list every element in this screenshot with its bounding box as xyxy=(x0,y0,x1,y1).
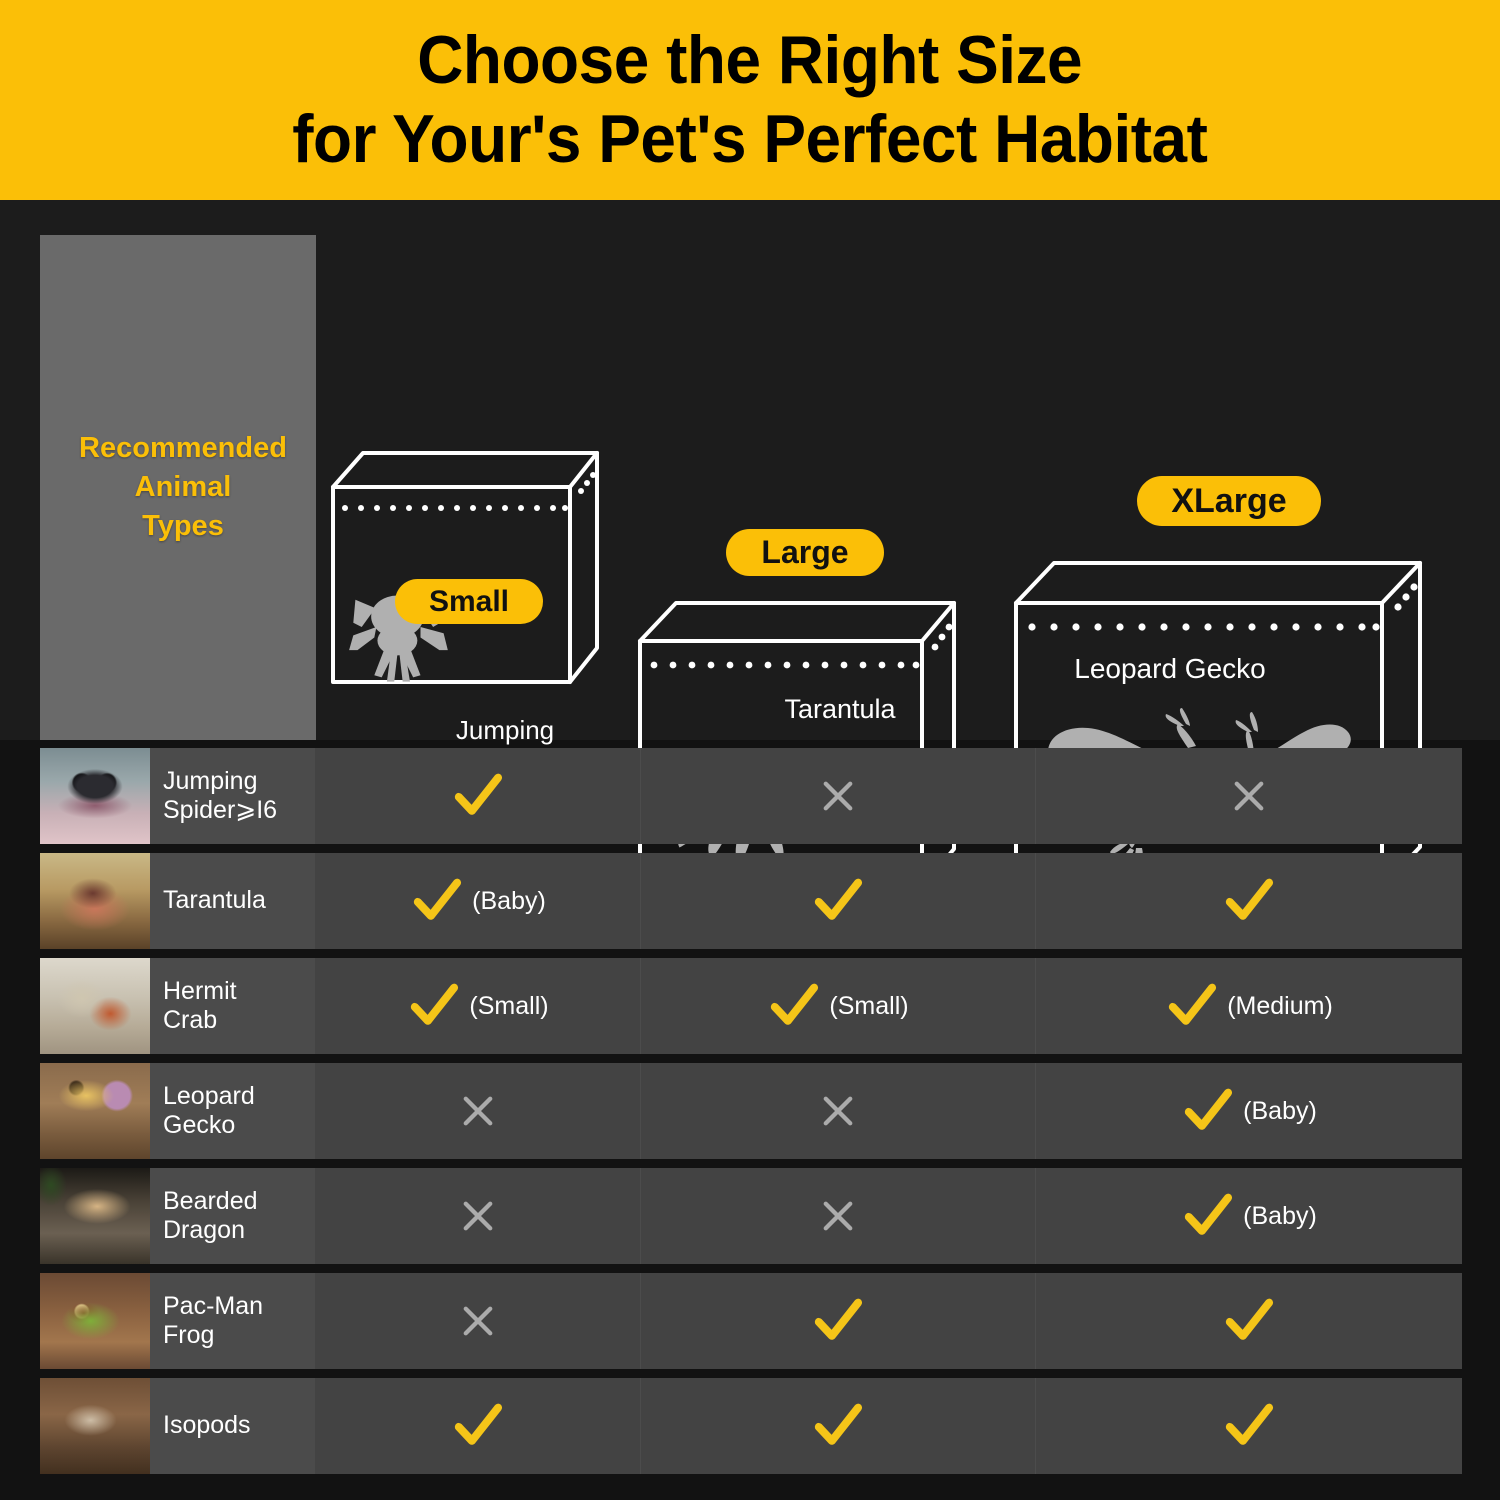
mark-wrapper xyxy=(810,1398,866,1454)
mark-wrapper xyxy=(1221,1398,1277,1454)
tank-small xyxy=(325,445,605,690)
mark-wrapper xyxy=(815,1193,861,1239)
check-icon xyxy=(450,768,506,824)
mark-wrapper: (Baby) xyxy=(1180,1083,1317,1139)
check-icon xyxy=(810,1398,866,1454)
check-icon xyxy=(1164,978,1220,1034)
cell-large xyxy=(640,748,1035,844)
mark-wrapper: (Small) xyxy=(406,978,548,1034)
mark-wrapper: (Small) xyxy=(766,978,908,1034)
row-animal-name: Pac-Man Frog xyxy=(163,1292,263,1351)
cell-small xyxy=(315,1063,640,1159)
mark-wrapper xyxy=(455,1193,501,1239)
check-icon xyxy=(1180,1188,1236,1244)
cross-icon xyxy=(815,1088,861,1134)
cross-icon xyxy=(815,773,861,819)
cell-small xyxy=(315,1168,640,1264)
check-icon xyxy=(1180,1083,1236,1139)
cell-note: (Small) xyxy=(829,992,908,1021)
table-row: Jumping Spider⩾I6 xyxy=(40,748,1462,844)
row-animal-name-cell: Isopods xyxy=(150,1378,315,1474)
mark-wrapper: (Baby) xyxy=(1180,1188,1317,1244)
cell-xlarge xyxy=(1035,853,1462,949)
cell-large xyxy=(640,1168,1035,1264)
mark-wrapper xyxy=(1221,1293,1277,1349)
mark-wrapper xyxy=(455,1298,501,1344)
row-animal-name: Bearded Dragon xyxy=(163,1187,258,1246)
cell-small: (Baby) xyxy=(315,853,640,949)
sidebar-title-line-3: Types xyxy=(79,507,287,546)
tank-size-diagram-area: Recommended Animal Types xyxy=(0,200,1500,740)
row-animal-name-cell: Hermit Crab xyxy=(150,958,315,1054)
table-row: Hermit Crab(Small)(Small)(Medium) xyxy=(40,958,1462,1054)
mark-wrapper xyxy=(815,773,861,819)
cell-note: (Baby) xyxy=(472,887,546,916)
cross-icon xyxy=(815,1193,861,1239)
check-icon xyxy=(1221,873,1277,929)
check-icon xyxy=(766,978,822,1034)
check-icon xyxy=(406,978,462,1034)
table-row: Isopods xyxy=(40,1378,1462,1474)
isopods-photo xyxy=(40,1378,150,1474)
mark-wrapper xyxy=(1226,773,1272,819)
bearded-dragon-photo xyxy=(40,1168,150,1264)
cell-xlarge xyxy=(1035,1378,1462,1474)
cell-large xyxy=(640,1378,1035,1474)
cell-note: (Baby) xyxy=(1243,1097,1317,1126)
cell-large xyxy=(640,853,1035,949)
mark-wrapper xyxy=(450,1398,506,1454)
size-badge-small[interactable]: Small xyxy=(395,579,543,624)
mark-wrapper xyxy=(810,1293,866,1349)
row-animal-name-cell: Pac-Man Frog xyxy=(150,1273,315,1369)
cell-large xyxy=(640,1063,1035,1159)
header-title-line-1: Choose the Right Size xyxy=(418,21,1083,100)
check-icon xyxy=(1221,1398,1277,1454)
sidebar-title-line-1: Recommended xyxy=(79,429,287,468)
row-animal-name-cell: Bearded Dragon xyxy=(150,1168,315,1264)
check-icon xyxy=(450,1398,506,1454)
row-animal-name: Isopods xyxy=(163,1411,251,1441)
size-badge-large[interactable]: Large xyxy=(726,529,884,576)
mark-wrapper xyxy=(1221,873,1277,929)
mark-wrapper xyxy=(450,768,506,824)
row-animal-name: Leopard Gecko xyxy=(163,1082,255,1141)
cell-xlarge: (Baby) xyxy=(1035,1063,1462,1159)
check-icon xyxy=(1221,1293,1277,1349)
mark-wrapper xyxy=(455,1088,501,1134)
table-row: Tarantula(Baby) xyxy=(40,853,1462,949)
cell-note: (Baby) xyxy=(1243,1202,1317,1231)
cross-icon xyxy=(455,1088,501,1134)
size-badge-xlarge[interactable]: XLarge xyxy=(1137,476,1321,526)
tank-xlarge-vent-dots xyxy=(1028,583,1417,630)
check-icon xyxy=(810,1293,866,1349)
cell-xlarge: (Baby) xyxy=(1035,1168,1462,1264)
sidebar-title: Recommended Animal Types xyxy=(53,429,303,546)
row-animal-name-cell: Jumping Spider⩾I6 xyxy=(150,748,315,844)
check-icon xyxy=(409,873,465,929)
table-row: Leopard Gecko(Baby) xyxy=(40,1063,1462,1159)
tank-large-vent-dots xyxy=(651,624,953,669)
cross-icon xyxy=(1226,773,1272,819)
cell-xlarge: (Medium) xyxy=(1035,958,1462,1054)
cell-xlarge xyxy=(1035,748,1462,844)
mark-wrapper: (Baby) xyxy=(409,873,546,929)
infographic-page: Choose the Right Size for Your's Pet's P… xyxy=(0,0,1500,1500)
cell-small xyxy=(315,1378,640,1474)
row-animal-name-cell: Tarantula xyxy=(150,853,315,949)
mark-wrapper xyxy=(810,873,866,929)
check-icon xyxy=(810,873,866,929)
table-row: Bearded Dragon(Baby) xyxy=(40,1168,1462,1264)
cell-small: (Small) xyxy=(315,958,640,1054)
cross-icon xyxy=(455,1193,501,1239)
table-row: Pac-Man Frog xyxy=(40,1273,1462,1369)
cell-note: (Small) xyxy=(469,992,548,1021)
header-banner: Choose the Right Size for Your's Pet's P… xyxy=(0,0,1500,200)
tarantula-photo xyxy=(40,853,150,949)
row-animal-name: Tarantula xyxy=(163,886,266,916)
recommended-animal-types-panel: Recommended Animal Types xyxy=(40,235,316,740)
tank-small-vent-dots xyxy=(342,472,596,511)
hermit-crab-photo xyxy=(40,958,150,1054)
cell-large: (Small) xyxy=(640,958,1035,1054)
jumping-spider-photo xyxy=(40,748,150,844)
cell-small xyxy=(315,748,640,844)
cell-note: (Medium) xyxy=(1227,992,1333,1021)
mark-wrapper xyxy=(815,1088,861,1134)
row-animal-name-cell: Leopard Gecko xyxy=(150,1063,315,1159)
cell-large xyxy=(640,1273,1035,1369)
cell-xlarge xyxy=(1035,1273,1462,1369)
mark-wrapper: (Medium) xyxy=(1164,978,1333,1034)
cell-small xyxy=(315,1273,640,1369)
header-title-line-2: for Your's Pet's Perfect Habitat xyxy=(292,100,1207,179)
leopard-gecko-photo xyxy=(40,1063,150,1159)
cross-icon xyxy=(455,1298,501,1344)
sidebar-title-line-2: Animal xyxy=(79,468,287,507)
row-animal-name: Hermit Crab xyxy=(163,977,237,1036)
pacman-frog-photo xyxy=(40,1273,150,1369)
row-animal-name: Jumping Spider⩾I6 xyxy=(163,767,277,826)
compatibility-table: Jumping Spider⩾I6Tarantula(Baby)Hermit C… xyxy=(0,740,1500,1500)
